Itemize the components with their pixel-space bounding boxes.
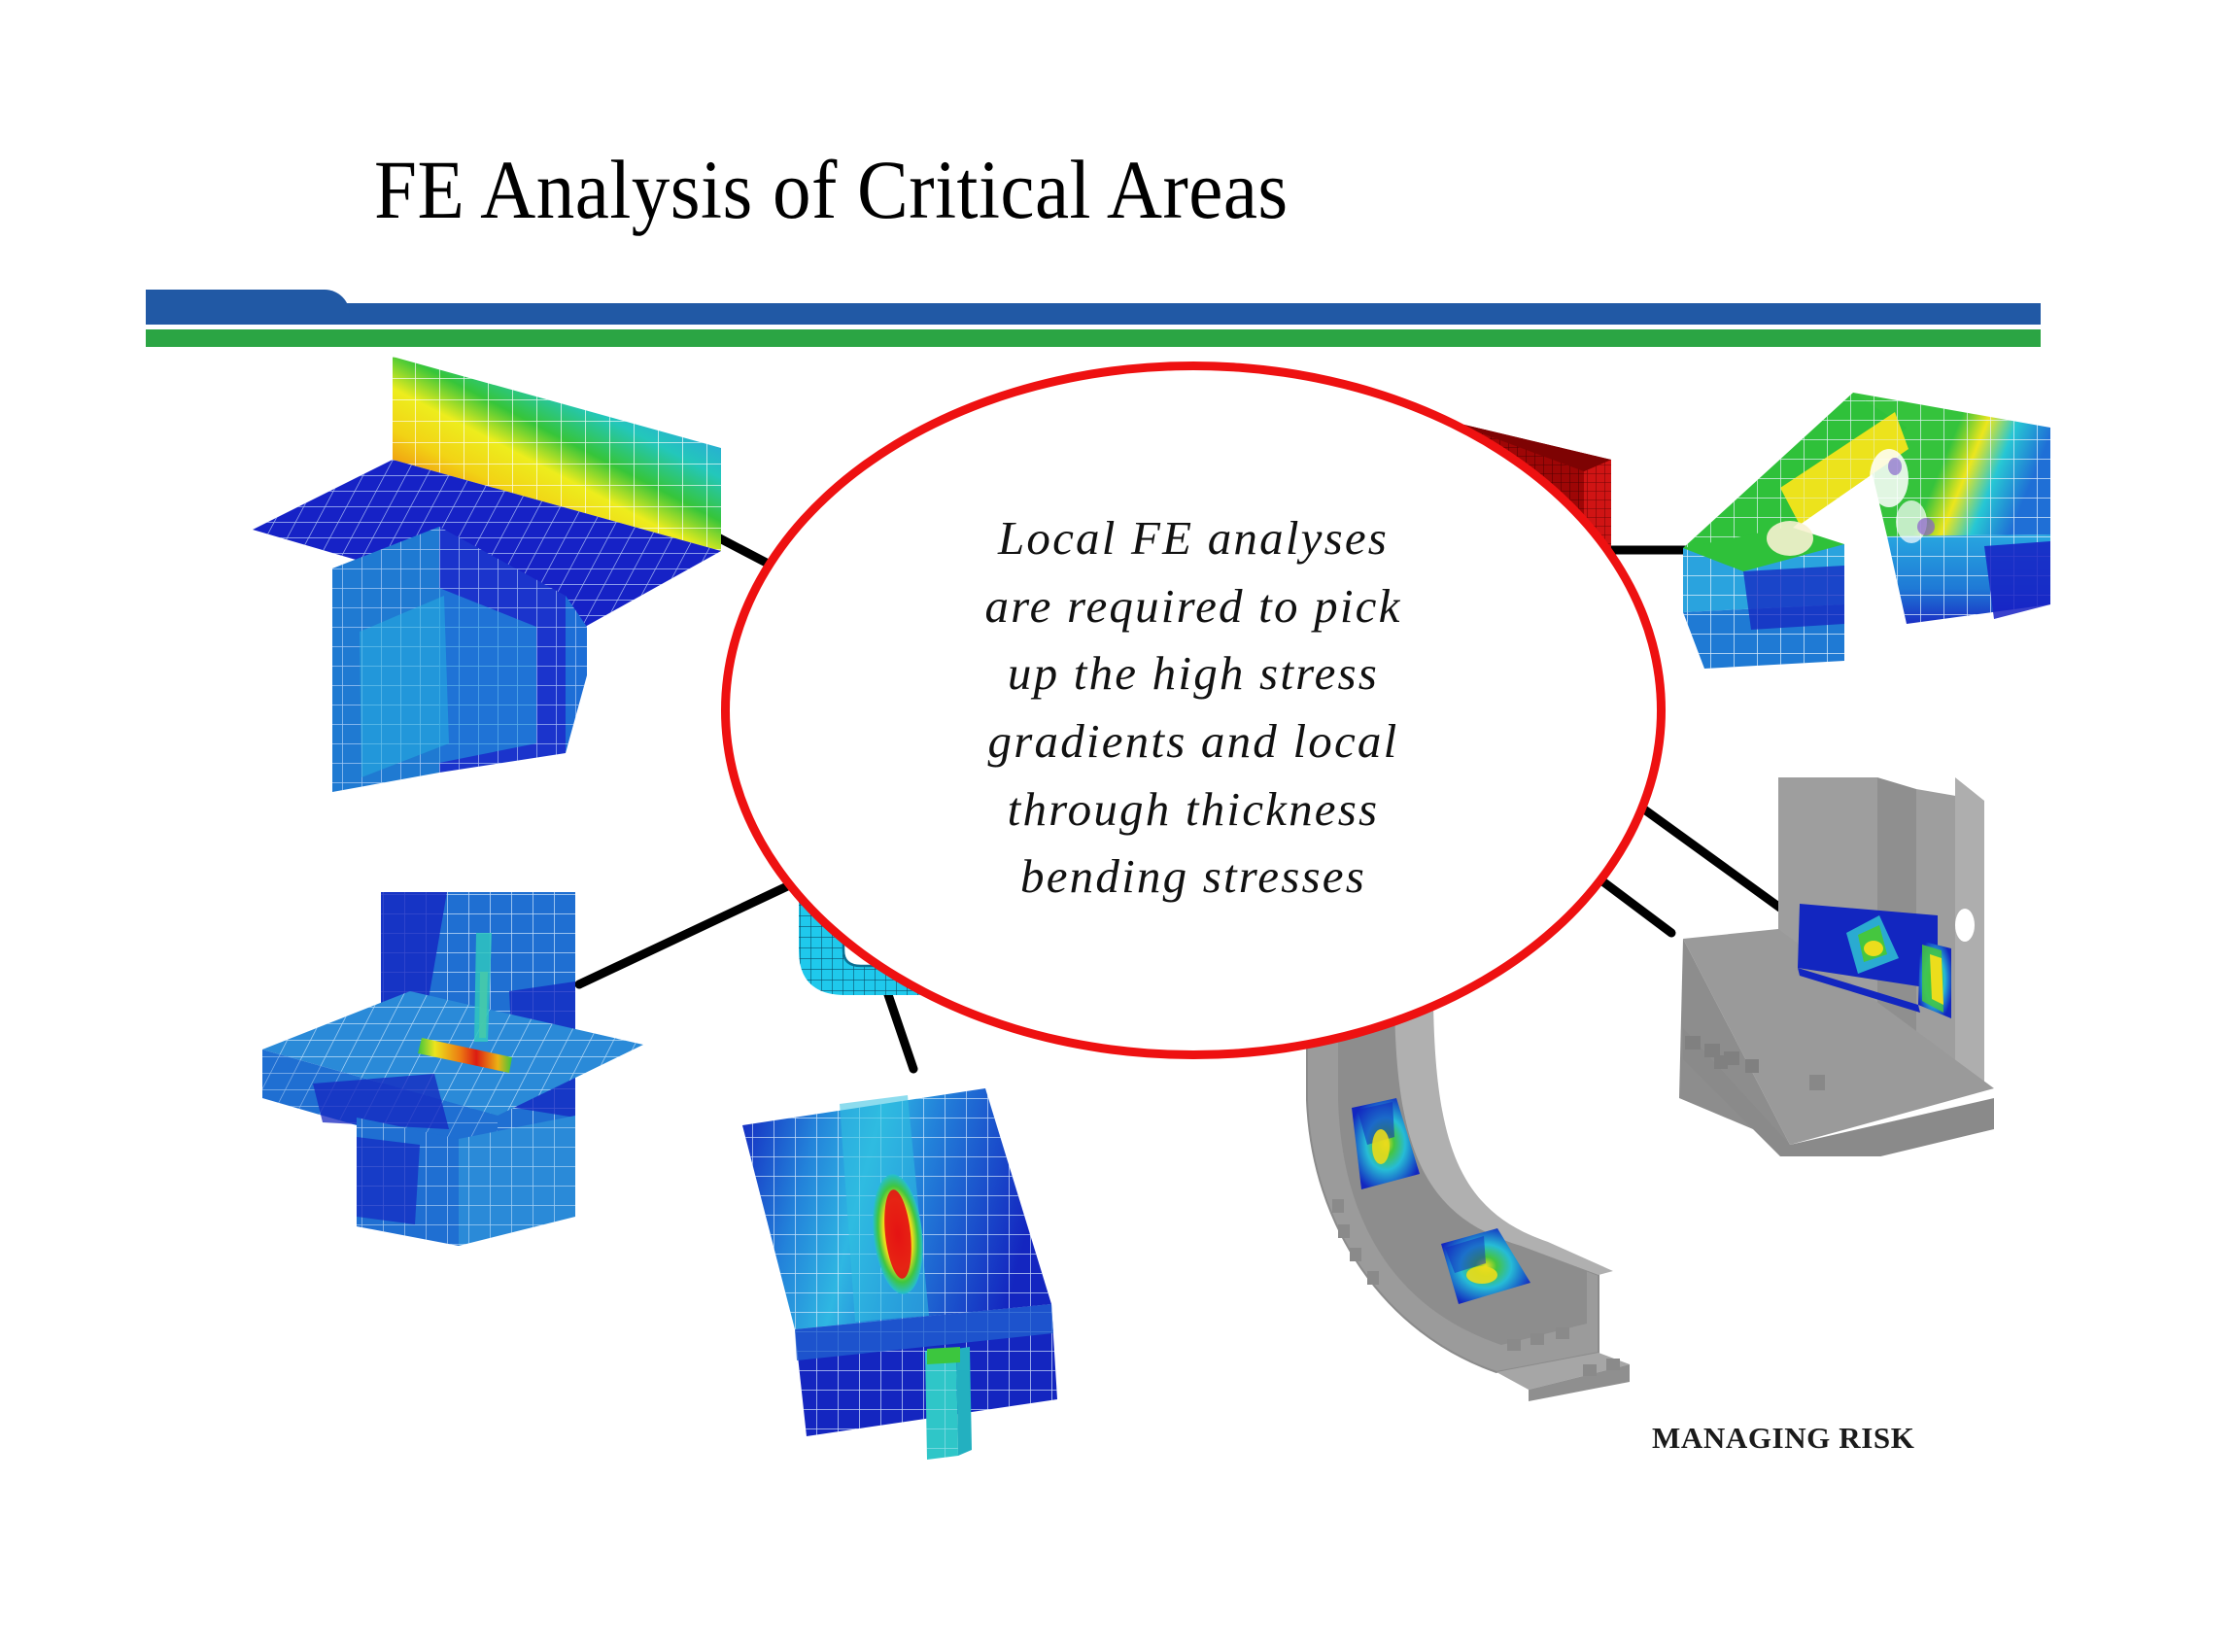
callout-ellipse: Local FE analyses are required to pick u…	[721, 361, 1666, 1059]
fig-plate-hotspot	[731, 1079, 1110, 1467]
connector-curved-bracket	[1594, 875, 1671, 933]
callout-line-4: gradients and local	[873, 707, 1514, 775]
callout-line-1: Local FE analyses	[873, 504, 1514, 572]
fig-t-joint-stress	[245, 335, 760, 792]
callout-line-3: up the high stress	[873, 639, 1514, 707]
slide-canvas: FE Analysis of Critical Areas	[0, 0, 2235, 1652]
callout-line-6: bending stresses	[873, 843, 1514, 911]
fig-cruciform	[255, 875, 653, 1254]
callout-line-5: through thickness	[873, 775, 1514, 843]
fig-box-bracket	[1673, 768, 2062, 1156]
callout-line-2: are required to pick	[873, 572, 1514, 640]
fig-curved-bracket	[1278, 983, 1637, 1401]
footer-branding: MANAGING RISK	[1652, 1421, 1914, 1456]
callout-text: Local FE analyses are required to pick u…	[873, 504, 1514, 910]
fig-solid-block-weld	[1664, 381, 2072, 692]
